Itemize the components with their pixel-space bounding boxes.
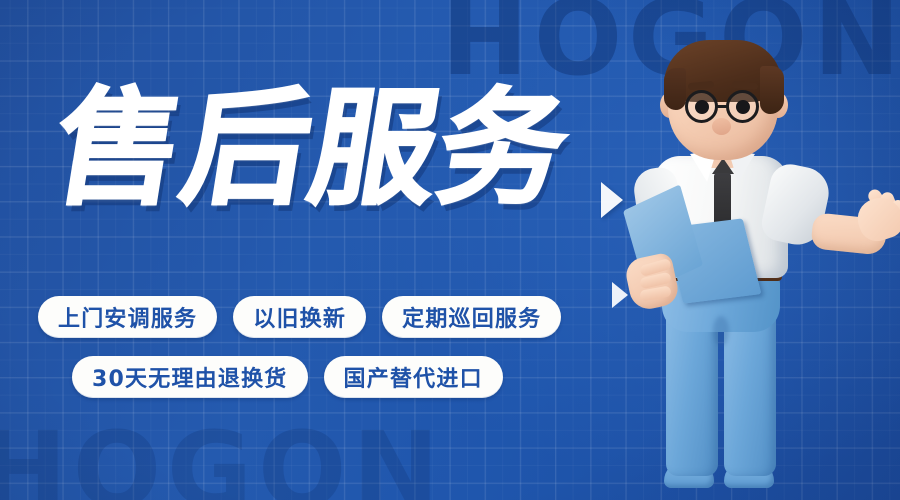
feature-pill-row-2: 30天无理由退换货 国产替代进口 — [38, 356, 658, 398]
pants-shading — [713, 316, 729, 346]
feature-pill-onsite-install[interactable]: 上门安调服务 — [38, 296, 217, 338]
glasses-bridge — [717, 105, 727, 108]
feature-pill-trade-in[interactable]: 以旧换新 — [233, 296, 366, 338]
hair-sideburn-left — [664, 68, 686, 110]
tie-knot — [712, 158, 734, 174]
eye-left — [695, 100, 709, 114]
page-title-text: 售后服务 — [46, 86, 578, 212]
feature-pill-row-1: 上门安调服务 以旧换新 定期巡回服务 — [38, 296, 658, 338]
hair-sideburn-right — [760, 66, 784, 114]
page-title: 售后服务 — [46, 86, 578, 212]
eye-right — [736, 100, 750, 114]
watermark-bottom-left: HOGON — [0, 418, 445, 500]
feature-pill-regular-inspection[interactable]: 定期巡回服务 — [382, 296, 561, 338]
nose — [712, 118, 731, 135]
after-sales-service-banner: HOGON HOGON 售后服务 上门安调服务 以旧换新 定期巡回服务 30天无… — [0, 0, 900, 500]
feature-pill-group: 上门安调服务 以旧换新 定期巡回服务 30天无理由退换货 国产替代进口 — [38, 296, 658, 416]
feature-pill-30day-return[interactable]: 30天无理由退换货 — [72, 356, 308, 398]
feature-pill-domestic-substitute[interactable]: 国产替代进口 — [324, 356, 503, 398]
service-staff-illustration — [600, 30, 900, 500]
